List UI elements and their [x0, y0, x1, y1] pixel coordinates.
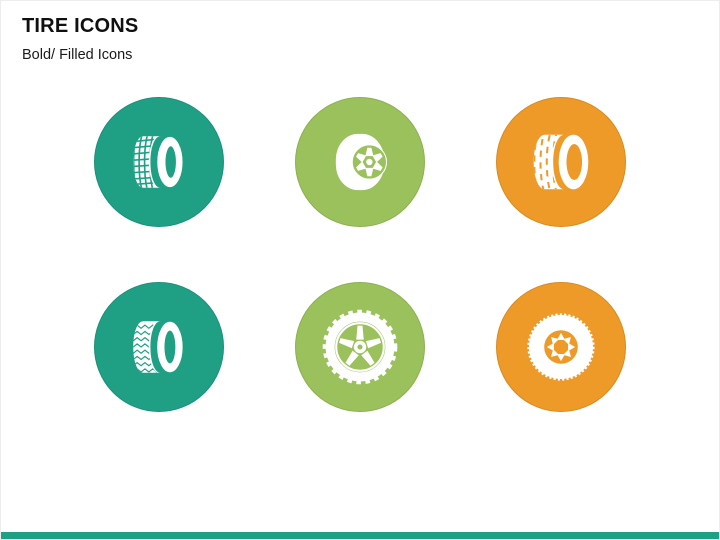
- tire-angled-crosshatch-tread-icon: [120, 123, 198, 201]
- icon-cell-1[interactable]: [94, 97, 224, 260]
- wheel-front-eight-spoke-icon: [520, 306, 602, 388]
- page-title: TIRE ICONS: [22, 15, 522, 38]
- icon-cell-3[interactable]: [496, 97, 626, 260]
- rim-hub: [556, 342, 566, 352]
- slide-canvas: TIRE ICONS Bold/ Filled Icons: [0, 0, 720, 540]
- rim-hub: [366, 159, 372, 165]
- icon-row-1: [1, 97, 720, 260]
- icon-badge-wheel-front-eight-spoke[interactable]: [496, 282, 626, 412]
- icon-badge-tire-angled-zigzag-tread[interactable]: [94, 282, 224, 412]
- page-subtitle: Bold/ Filled Icons: [22, 47, 522, 64]
- icon-cell-4[interactable]: [94, 282, 224, 445]
- slide-header: TIRE ICONS Bold/ Filled Icons: [22, 15, 522, 64]
- tire-side-six-spoke-rim-icon: [321, 123, 399, 201]
- icon-badge-tire-angled-dashed-tread[interactable]: [496, 97, 626, 227]
- icon-row-2: [1, 282, 720, 445]
- icon-badge-tire-angled-crosshatch-tread[interactable]: [94, 97, 224, 227]
- rim-hub-center: [357, 344, 362, 349]
- icon-badge-tire-side-six-spoke-rim[interactable]: [295, 97, 425, 227]
- icon-badge-wheel-front-five-spoke-knobby[interactable]: [295, 282, 425, 412]
- icon-grid: [1, 97, 720, 467]
- tire-angled-zigzag-tread-icon: [120, 308, 198, 386]
- icon-cell-5[interactable]: [295, 282, 425, 445]
- bottom-accent-bar: [1, 532, 720, 539]
- tire-angled-dashed-tread-icon: [522, 123, 600, 201]
- icon-cell-2[interactable]: [295, 97, 425, 260]
- icon-cell-6[interactable]: [496, 282, 626, 445]
- wheel-front-five-spoke-knobby-icon: [319, 306, 401, 388]
